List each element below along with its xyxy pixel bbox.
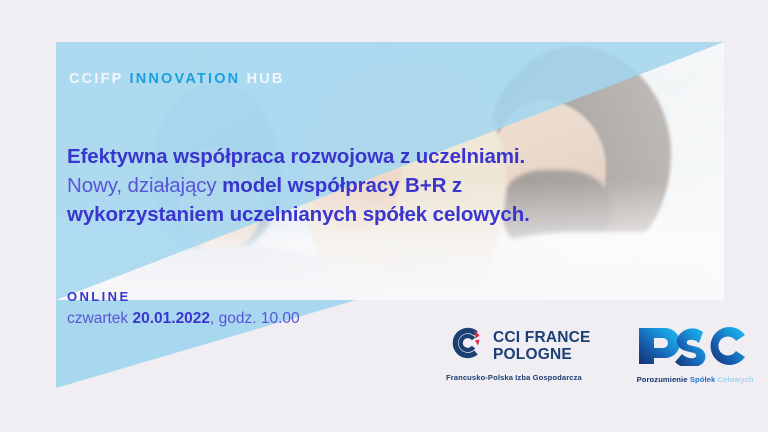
psc-tagline-word2: Spółek bbox=[690, 375, 716, 384]
title-line-2-bold: model współpracy B+R z bbox=[222, 174, 462, 197]
title-line-2: Nowy, działający model współpracy B+R z bbox=[67, 171, 667, 200]
cci-wordmark-line1: CCI FRANCE bbox=[493, 329, 591, 346]
psc-tagline-word3: Celowych bbox=[718, 375, 754, 384]
event-details: ONLINE czwartek 20.01.2022, godz. 10.00 bbox=[67, 289, 300, 328]
title-line-1: Efektywna współpraca rozwojowa z uczelni… bbox=[67, 142, 667, 171]
cci-tagline: Francusko-Polska Izba Gospodarcza bbox=[446, 373, 582, 382]
event-datetime: czwartek 20.01.2022, godz. 10.00 bbox=[67, 310, 300, 328]
page-title: Efektywna współpraca rozwojowa z uczelni… bbox=[67, 142, 667, 229]
cci-wordmark-line2: POLOGNE bbox=[493, 346, 572, 363]
kicker-part1: CCIFP bbox=[69, 71, 129, 87]
poster-canvas: CCIFP INNOVATION HUB Efektywna współprac… bbox=[0, 0, 768, 432]
event-date: 20.01.2022 bbox=[132, 310, 210, 327]
logo-row: CCI FRANCE POLOGNE Francusko-Polska Izba… bbox=[446, 326, 754, 384]
kicker-highlight: INNOVATION bbox=[129, 71, 240, 87]
psc-tagline-word1: Porozumienie bbox=[637, 375, 688, 384]
psc-tagline: Porozumienie Spółek Celowych bbox=[637, 375, 754, 384]
cci-wordmark: CCI FRANCE POLOGNE bbox=[493, 329, 591, 363]
brand-kicker: CCIFP INNOVATION HUB bbox=[69, 71, 285, 87]
event-time: , godz. 10.00 bbox=[210, 310, 300, 327]
kicker-part2: HUB bbox=[240, 71, 284, 87]
psc-mark-icon bbox=[637, 326, 749, 371]
psc-logo[interactable]: Porozumienie Spółek Celowych bbox=[637, 326, 754, 384]
title-line-3: wykorzystaniem uczelnianych spółek celow… bbox=[67, 200, 667, 229]
cci-mark-icon bbox=[446, 326, 484, 365]
cci-france-pologne-logo[interactable]: CCI FRANCE POLOGNE Francusko-Polska Izba… bbox=[446, 326, 591, 382]
event-day: czwartek bbox=[67, 310, 132, 327]
event-mode-label: ONLINE bbox=[67, 289, 300, 304]
title-line-2-regular: Nowy, działający bbox=[67, 174, 222, 197]
